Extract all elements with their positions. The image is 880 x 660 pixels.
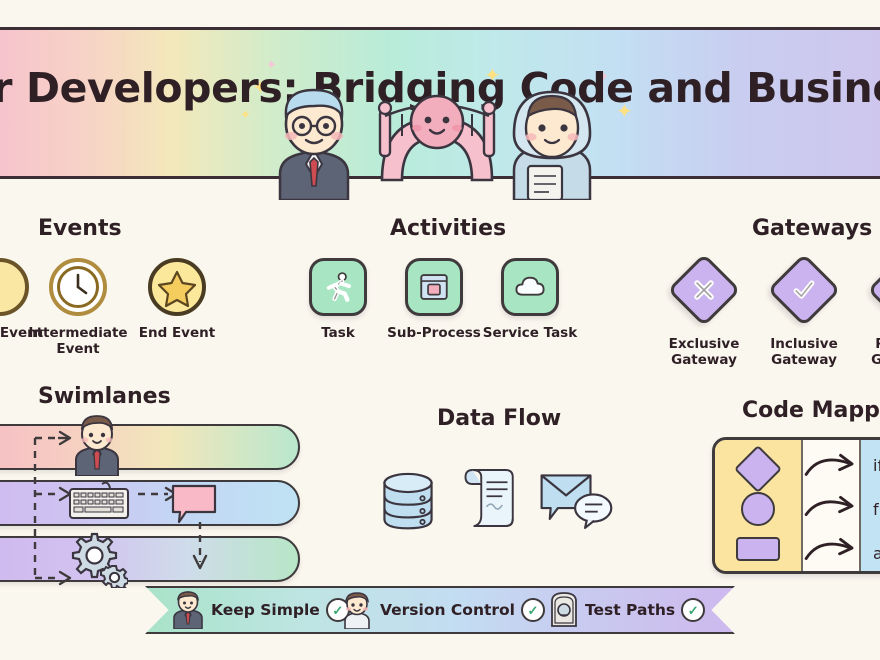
data-flow-message[interactable] bbox=[536, 468, 616, 530]
check-icon: ✓ bbox=[521, 598, 545, 622]
window-box-icon bbox=[405, 258, 463, 316]
tip-label: Keep Simple bbox=[211, 601, 320, 619]
code-mapping-arrows-column bbox=[803, 440, 861, 571]
document-stamp-icon bbox=[549, 591, 579, 629]
tip-label: Version Control bbox=[380, 601, 515, 619]
gateway-shape bbox=[778, 253, 830, 327]
event-end-event[interactable]: End Event bbox=[122, 258, 232, 341]
gateway-exclusive[interactable]: Exclusive Gateway bbox=[649, 253, 759, 368]
section-title-gateways: Gateways bbox=[752, 216, 872, 241]
plus-icon bbox=[867, 253, 880, 327]
document-scroll-icon bbox=[462, 464, 518, 532]
tip-keep-simple[interactable]: Keep Simple ✓ bbox=[171, 591, 350, 629]
rectangle-shape bbox=[736, 537, 780, 561]
envelope-message-icon bbox=[538, 468, 614, 530]
businessman-icon bbox=[171, 591, 205, 629]
code-mapping-panel[interactable]: if/else function await bbox=[712, 437, 880, 574]
gateway-shape bbox=[678, 253, 730, 327]
clock-icon bbox=[49, 258, 107, 316]
businessman-icon bbox=[70, 414, 124, 476]
infographic-canvas: ✦ ✦ ✦ ✦ ✦ ✦ BPMN for Developers: Bridgin… bbox=[0, 0, 880, 660]
speech-bubble-icon bbox=[170, 482, 218, 530]
item-label: End Event bbox=[139, 325, 215, 341]
footer-ribbon: Keep Simple ✓ Version Control ✓ bbox=[145, 586, 735, 634]
code-label: function bbox=[873, 500, 880, 519]
section-title-code-mapping: Code Mapping bbox=[742, 398, 880, 423]
developer-character bbox=[504, 82, 600, 200]
data-flow-database[interactable] bbox=[368, 470, 448, 534]
x-cross-icon bbox=[667, 253, 741, 327]
code-mapping-code-column: if/else function await bbox=[861, 440, 880, 571]
businessman-character bbox=[266, 82, 362, 200]
item-label: Task bbox=[321, 325, 355, 341]
bridge-character bbox=[376, 80, 498, 184]
diamond-shape bbox=[734, 445, 782, 493]
item-label: Parallel Gateway bbox=[849, 336, 880, 368]
gears-icon bbox=[70, 530, 128, 588]
tip-label: Test Paths bbox=[585, 601, 675, 619]
section-title-swimlanes: Swimlanes bbox=[38, 384, 171, 409]
item-label: Inclusive Gateway bbox=[749, 336, 859, 368]
star-icon bbox=[148, 258, 206, 316]
item-label: Exclusive Gateway bbox=[649, 336, 759, 368]
gateway-parallel[interactable]: Parallel Gateway bbox=[849, 253, 880, 368]
database-icon bbox=[379, 470, 437, 534]
keyboard-icon bbox=[68, 482, 130, 522]
swimlane-flow-arrows bbox=[0, 414, 310, 600]
code-label: await bbox=[873, 544, 880, 563]
section-title-events: Events bbox=[38, 216, 122, 241]
tip-test-paths[interactable]: Test Paths ✓ bbox=[549, 591, 705, 629]
check-icon: ✓ bbox=[681, 598, 705, 622]
section-title-activities: Activities bbox=[390, 216, 506, 241]
activity-service-task[interactable]: Service Task bbox=[475, 258, 585, 341]
code-label: if/else bbox=[873, 456, 880, 475]
item-label: Sub-Process bbox=[387, 325, 481, 341]
gateway-inclusive[interactable]: Inclusive Gateway bbox=[749, 253, 859, 368]
check-icon bbox=[767, 253, 841, 327]
code-mapping-shapes-column bbox=[715, 440, 803, 571]
data-flow-document[interactable] bbox=[450, 464, 530, 532]
cloud-icon bbox=[501, 258, 559, 316]
activity-sub-process[interactable]: Sub-Process bbox=[379, 258, 489, 341]
item-label: Intermediate Event bbox=[23, 325, 133, 357]
activity-task[interactable]: Task bbox=[283, 258, 393, 341]
item-label: Service Task bbox=[483, 325, 577, 341]
tip-version-control[interactable]: Version Control ✓ bbox=[340, 591, 545, 629]
event-intermediate-event[interactable]: Intermediate Event bbox=[23, 258, 133, 357]
child-face-icon bbox=[340, 591, 374, 629]
circle-shape bbox=[741, 492, 775, 526]
running-person-icon bbox=[309, 258, 367, 316]
header-banner: ✦ ✦ ✦ ✦ ✦ ✦ BPMN for Developers: Bridgin… bbox=[0, 27, 880, 179]
section-title-data-flow: Data Flow bbox=[437, 406, 561, 431]
